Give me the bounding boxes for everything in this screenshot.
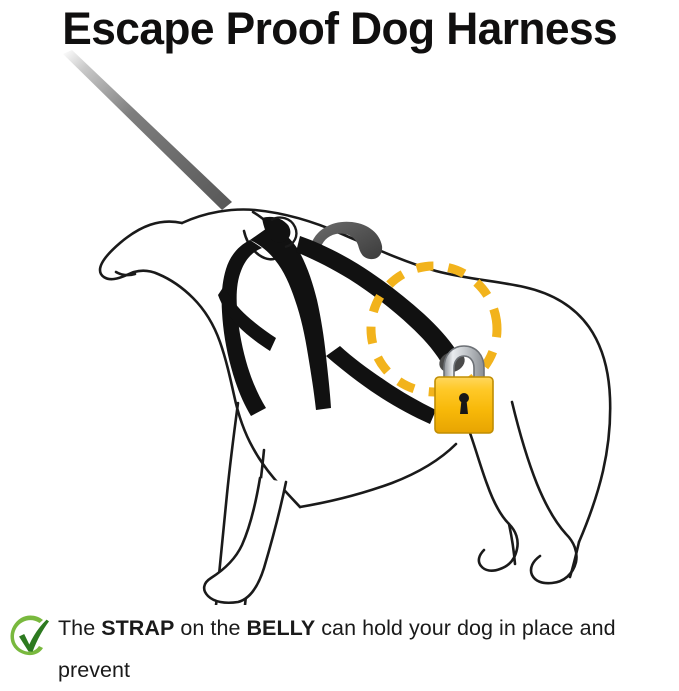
illustration-canvas — [0, 50, 679, 605]
title-bar: Escape Proof Dog Harness — [0, 0, 679, 56]
caption-l1-p2: on the — [174, 616, 246, 640]
caption-l1-p1: STRAP — [101, 616, 174, 640]
green-check-icon — [8, 613, 52, 657]
caption-line-1: The STRAP on the BELLY can hold your dog… — [58, 607, 676, 691]
leash — [63, 50, 232, 210]
caption-l1-p3: BELLY — [246, 616, 315, 640]
caption-text: The STRAP on the BELLY can hold your dog… — [58, 607, 676, 691]
infographic-root: Escape Proof Dog Harness — [0, 0, 679, 691]
dog-harness-illustration — [0, 50, 679, 605]
check-icon-svg — [8, 613, 52, 657]
caption-block: The STRAP on the BELLY can hold your dog… — [0, 605, 679, 691]
page-title: Escape Proof Dog Harness — [62, 6, 617, 51]
caption-l1-p0: The — [58, 616, 101, 640]
